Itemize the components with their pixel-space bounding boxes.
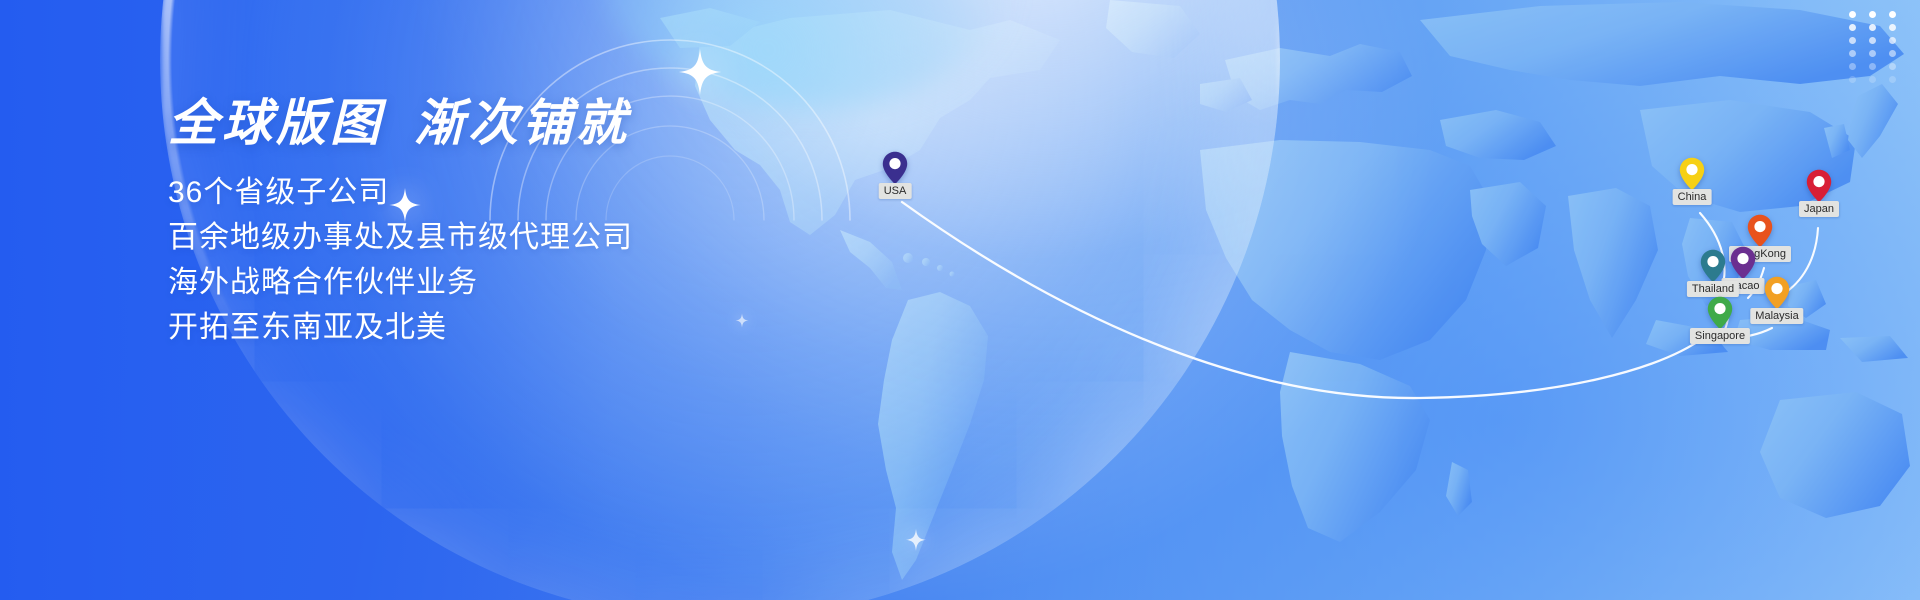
marker-label: Singapore: [1690, 328, 1750, 344]
marker-label: Japan: [1799, 201, 1839, 217]
location-pin-icon: [1747, 214, 1773, 248]
bullet-item-2: 百余地级办事处及县市级代理公司: [168, 215, 788, 260]
map-marker-china[interactable]: China: [1679, 157, 1705, 196]
map-marker-thailand[interactable]: Thailand: [1700, 249, 1726, 288]
grid-dot: [1869, 11, 1876, 18]
location-pin-icon: [1764, 276, 1790, 310]
grid-dot: [1889, 76, 1896, 83]
bullet-item-3: 海外战略合作伙伴业务: [168, 260, 788, 305]
location-pin-icon: [1707, 296, 1733, 330]
map-marker-malaysia[interactable]: Malaysia: [1764, 276, 1790, 315]
bullet-item-4: 开拓至东南亚及北美: [168, 305, 788, 350]
grid-dot: [1849, 11, 1856, 18]
grid-dot: [1869, 63, 1876, 70]
grid-dot: [1889, 11, 1896, 18]
grid-dot: [1869, 24, 1876, 31]
location-pin-icon: [1806, 169, 1832, 203]
grid-dot: [1869, 76, 1876, 83]
marker-label: Malaysia: [1750, 308, 1803, 324]
grid-dot: [1849, 24, 1856, 31]
map-marker-macao[interactable]: Macao: [1730, 246, 1756, 285]
map-marker-japan[interactable]: Japan: [1806, 169, 1832, 208]
grid-dot: [1849, 37, 1856, 44]
grid-dot: [1869, 50, 1876, 57]
location-pin-icon: [882, 151, 908, 185]
grid-dot: [1849, 50, 1856, 57]
grid-dot: [1889, 50, 1896, 57]
grid-dot: [1889, 63, 1896, 70]
location-pin-icon: [1700, 249, 1726, 283]
grid-dot: [1889, 24, 1896, 31]
grid-dot: [1849, 76, 1856, 83]
bullet-list: 36个省级子公司 百余地级办事处及县市级代理公司 海外战略合作伙伴业务 开拓至东…: [168, 170, 788, 350]
grid-dot: [1889, 37, 1896, 44]
location-pin-icon: [1730, 246, 1756, 280]
route-usa-to-singapore: [902, 202, 1706, 398]
page-title: 全球版图渐次铺就: [168, 92, 788, 154]
marker-label: China: [1673, 189, 1712, 205]
grid-dot: [1869, 37, 1876, 44]
location-pin-icon: [1679, 157, 1705, 191]
marker-label: USA: [879, 183, 912, 199]
grid-dot: [1849, 63, 1856, 70]
dot-grid-decoration: [1842, 8, 1902, 86]
page-title-part-2: 渐次铺就: [414, 95, 630, 151]
map-marker-usa[interactable]: USA: [882, 151, 908, 190]
copy-block: 全球版图渐次铺就 36个省级子公司 百余地级办事处及县市级代理公司 海外战略合作…: [168, 92, 788, 350]
bullet-item-1: 36个省级子公司: [168, 170, 788, 215]
global-footprint-banner: 全球版图渐次铺就 36个省级子公司 百余地级办事处及县市级代理公司 海外战略合作…: [0, 0, 1920, 600]
map-marker-singapore[interactable]: Singapore: [1707, 296, 1733, 335]
page-title-part-1: 全球版图: [168, 95, 384, 151]
marker-label: Thailand: [1687, 281, 1739, 297]
